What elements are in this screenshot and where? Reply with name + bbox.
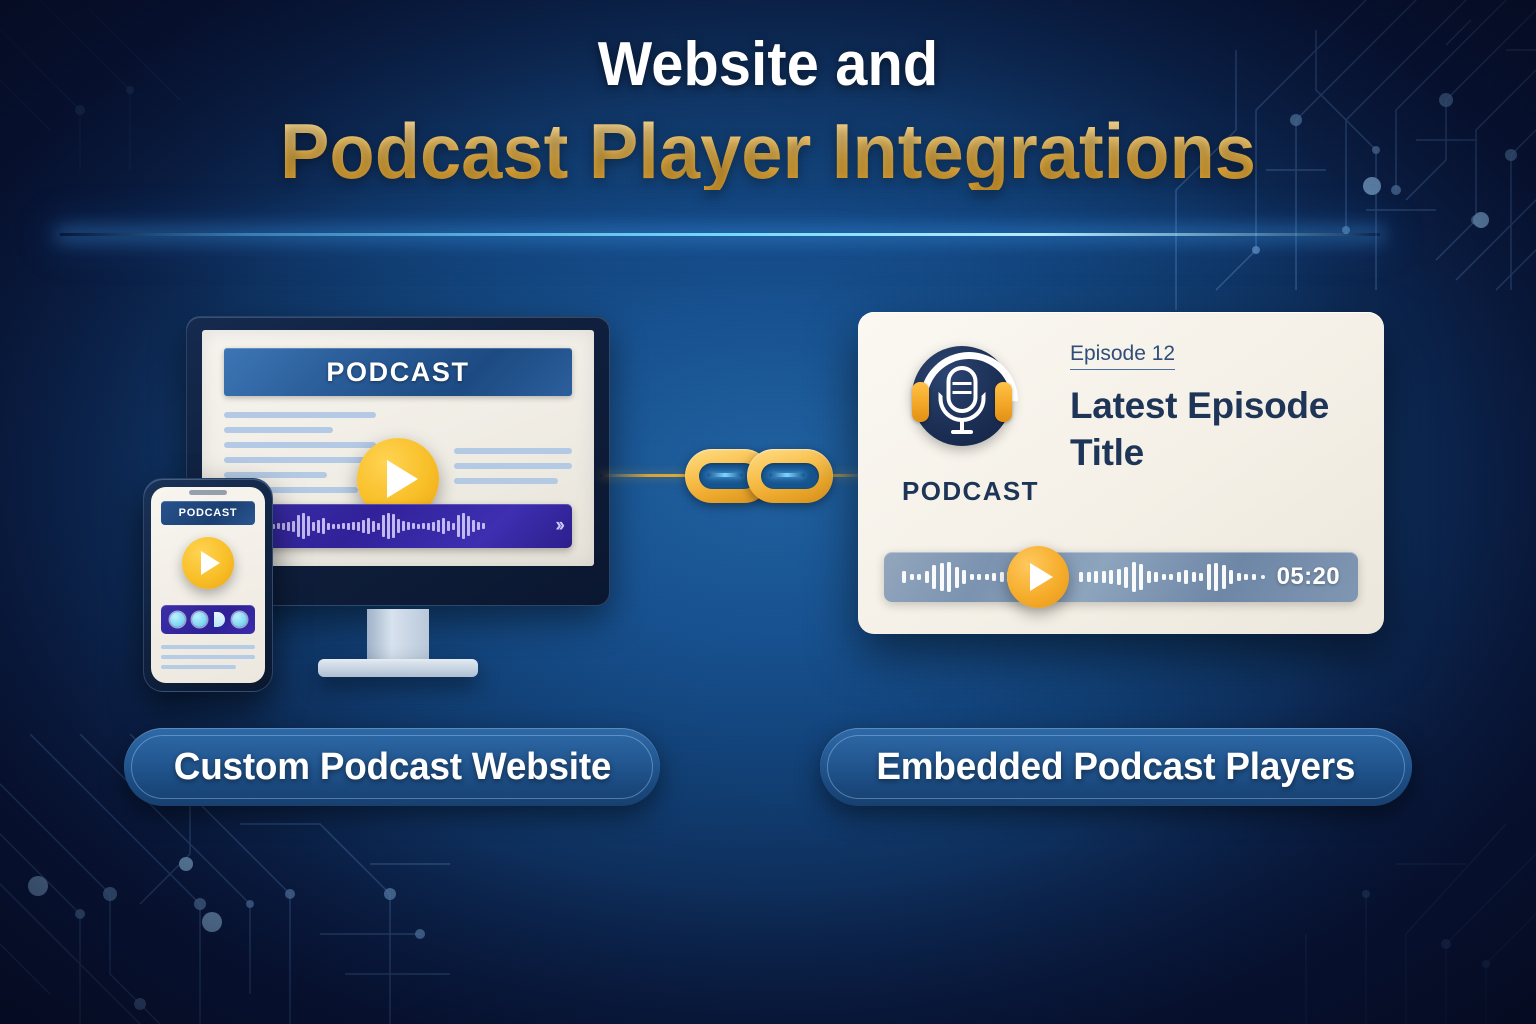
phone-banner-label: PODCAST bbox=[179, 507, 238, 519]
pill-label-right: Embedded Podcast Players bbox=[877, 746, 1356, 789]
label-custom-podcast-website[interactable]: Custom Podcast Website bbox=[124, 728, 660, 806]
monitor-stand-base bbox=[318, 659, 478, 677]
circle-button-icon[interactable] bbox=[232, 612, 247, 627]
phone-control-bar[interactable] bbox=[161, 605, 255, 634]
monitor-podcast-banner: PODCAST bbox=[224, 348, 572, 396]
pill-label-left: Custom Podcast Website bbox=[173, 746, 610, 789]
skip-forward-icon[interactable]: ›› bbox=[555, 515, 564, 537]
waveform-icon-right bbox=[1079, 562, 1256, 592]
podcast-mic-headphones-icon bbox=[906, 340, 1018, 452]
circle-button-icon[interactable] bbox=[192, 612, 207, 627]
card-audio-player[interactable]: 05:20 bbox=[884, 552, 1358, 602]
monitor-stand-neck bbox=[367, 609, 429, 661]
waveform-icon bbox=[232, 513, 549, 539]
page-title: Website and Podcast Player Integrations bbox=[0, 34, 1536, 190]
embedded-player-card: PODCAST Episode 12 Latest Episode Title … bbox=[858, 312, 1384, 634]
phone-text-lines bbox=[161, 645, 255, 675]
circuit-pattern-bottom-right bbox=[1246, 824, 1536, 1024]
label-embedded-podcast-players[interactable]: Embedded Podcast Players bbox=[820, 728, 1412, 806]
play-icon[interactable] bbox=[182, 537, 234, 589]
duration-label: 05:20 bbox=[1277, 563, 1340, 591]
phone-notch bbox=[189, 490, 227, 495]
poster-canvas: Website and Podcast Player Integrations … bbox=[0, 0, 1536, 1024]
monitor-audio-player[interactable]: ›› bbox=[224, 504, 572, 548]
play-icon[interactable] bbox=[1007, 546, 1069, 608]
half-moon-icon[interactable] bbox=[214, 612, 225, 627]
title-line-2: Podcast Player Integrations bbox=[38, 112, 1497, 190]
separator-dot bbox=[1261, 575, 1265, 579]
phone-mockup: PODCAST bbox=[143, 478, 273, 692]
episode-title: Latest Episode Title bbox=[1070, 382, 1360, 477]
phone-podcast-banner: PODCAST bbox=[161, 501, 255, 525]
monitor-text-lines-right bbox=[454, 448, 572, 493]
circle-button-icon[interactable] bbox=[170, 612, 185, 627]
title-line-1: Website and bbox=[54, 34, 1482, 96]
card-brand-label: PODCAST bbox=[902, 476, 1039, 507]
monitor-banner-label: PODCAST bbox=[326, 357, 469, 388]
episode-number: Episode 12 bbox=[1070, 342, 1175, 370]
chain-link-icon bbox=[685, 443, 835, 509]
glow-divider bbox=[60, 233, 1380, 236]
phone-screen: PODCAST bbox=[151, 487, 265, 683]
